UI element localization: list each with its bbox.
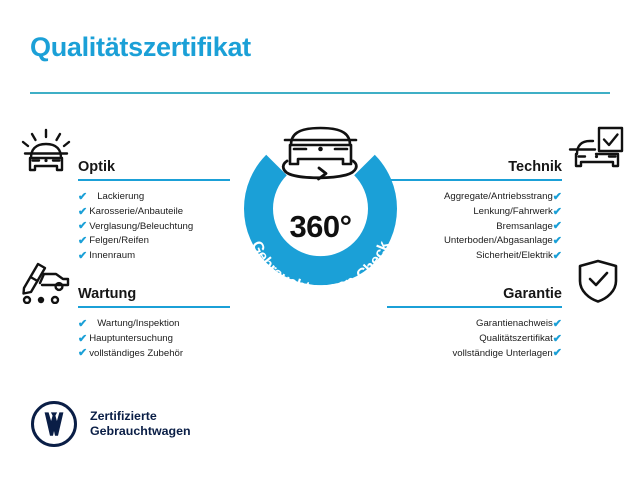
list-item-label: vollständiges Zubehör [89,347,183,362]
section-header-optik: Optik [78,141,230,175]
check-icon: ✔ [553,348,562,359]
check-icon: ✔ [553,334,562,345]
checklist-garantie: Garantienachweis ✔ Qualitätszertifikat ✔… [387,317,562,361]
list-item: ✔ Verglasung/Beleuchtung [78,220,230,235]
section-title-wartung: Wartung [78,287,136,303]
list-item: ✔ Felgen/Reifen [78,234,230,249]
check-icon: ✔ [78,207,87,218]
section-rule-technik [387,179,562,181]
list-item: Unterboden/Abgasanlage ✔ [387,234,562,249]
check-icon: ✔ [553,251,562,262]
section-wartung: Wartung ✔ Wartung/Inspektion ✔ Hauptunte… [78,268,230,361]
car-shine-icon [18,128,74,183]
list-item: ✔ Wartung/Inspektion [78,317,230,332]
badge-svg: Gebrauchtwagen-Check [228,113,413,303]
section-title-garantie: Garantie [503,287,562,303]
check-icon: ✔ [78,319,87,330]
section-header-garantie: Garantie [387,268,562,302]
check-icon: ✔ [78,251,87,262]
section-garantie: Garantie Garantienachweis ✔ Qualitätszer… [387,268,562,361]
list-item-label: Lackierung [97,190,144,205]
check-icon: ✔ [78,192,87,203]
check-icon: ✔ [78,221,87,232]
section-rule-wartung [78,306,230,308]
list-item-label: Garantienachweis [476,317,553,332]
car-rotate-icon [283,128,356,179]
vw-logo [30,400,78,448]
list-item: Garantienachweis ✔ [387,317,562,332]
list-item-label: Bremsanlage [496,220,553,235]
certificate-page: Qualitätszertifikat [0,0,640,480]
list-item-label: Qualitätszertifikat [479,332,553,347]
list-item-label: Aggregate/Antriebsstrang [444,190,553,205]
list-item-label: Unterboden/Abgasanlage [444,234,553,249]
vw-certified-text: Zertifizierte Gebrauchtwagen [90,409,191,440]
vw-certified-footer: Zertifizierte Gebrauchtwagen [30,400,191,448]
list-item: Bremsanlage ✔ [387,220,562,235]
section-technik: Technik Aggregate/Antriebsstrang ✔ Lenku… [387,141,562,263]
badge-degrees: 360° [228,209,413,245]
check-icon: ✔ [78,236,87,247]
car-checkbox-icon [568,126,626,179]
check-icon: ✔ [78,348,87,359]
list-item: ✔ Innenraum [78,249,230,264]
section-rule-garantie [387,306,562,308]
pencil-car-service-icon [18,258,74,309]
shield-check-icon [576,258,620,309]
checklist-technik: Aggregate/Antriebsstrang ✔ Lenkung/Fahrw… [387,190,562,263]
list-item-label: Verglasung/Beleuchtung [89,220,193,235]
section-optik: Optik ✔ Lackierung ✔ Karosserie/Anbautei… [78,141,230,263]
section-title-technik: Technik [508,160,562,176]
check-icon: ✔ [553,192,562,203]
page-title: Qualitätszertifikat [30,32,251,63]
list-item: ✔ vollständiges Zubehör [78,347,230,362]
list-item: Aggregate/Antriebsstrang ✔ [387,190,562,205]
list-item-label: vollständige Unterlagen [453,347,553,362]
list-item: vollständige Unterlagen ✔ [387,347,562,362]
check-icon: ✔ [78,334,87,345]
section-header-wartung: Wartung [78,268,230,302]
list-item-label: Lenkung/Fahrwerk [473,205,552,220]
section-header-technik: Technik [387,141,562,175]
list-item-label: Karosserie/Anbauteile [89,205,183,220]
list-item: ✔ Hauptuntersuchung [78,332,230,347]
check-icon: ✔ [553,221,562,232]
section-rule-optik [78,179,230,181]
check-icon: ✔ [553,236,562,247]
vw-line-2: Gebrauchtwagen [90,424,191,440]
section-title-optik: Optik [78,160,115,176]
check-icon: ✔ [553,319,562,330]
list-item-label: Innenraum [89,249,135,264]
list-item: Lenkung/Fahrwerk ✔ [387,205,562,220]
list-item: Qualitätszertifikat ✔ [387,332,562,347]
checklist-optik: ✔ Lackierung ✔ Karosserie/Anbauteile ✔ V… [78,190,230,263]
list-item-label: Felgen/Reifen [89,234,149,249]
list-item-label: Sicherheit/Elektrik [476,249,553,264]
checklist-wartung: ✔ Wartung/Inspektion ✔ Hauptuntersuchung… [78,317,230,361]
title-divider [30,92,610,94]
list-item: ✔ Lackierung [78,190,230,205]
vw-line-1: Zertifizierte [90,409,191,425]
check-icon: ✔ [553,207,562,218]
list-item-label: Wartung/Inspektion [97,317,179,332]
list-item-label: Hauptuntersuchung [89,332,173,347]
list-item: Sicherheit/Elektrik ✔ [387,249,562,264]
badge-360-gebrauchtwagen-check: Gebrauchtwagen-Check 360° [228,113,413,303]
list-item: ✔ Karosserie/Anbauteile [78,205,230,220]
